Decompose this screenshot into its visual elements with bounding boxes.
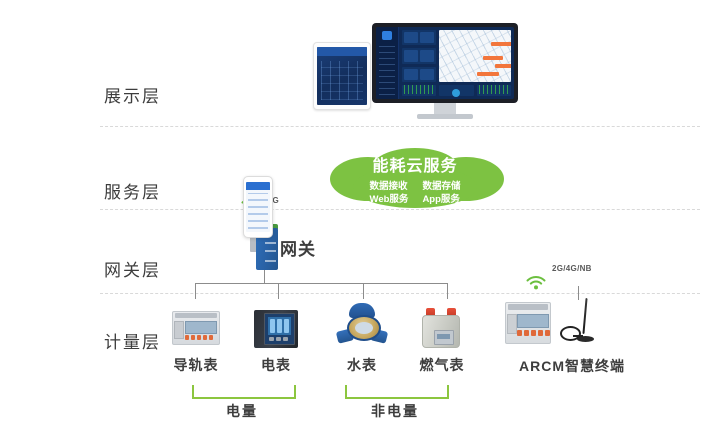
cloud-feature-web-service: Web服务 (370, 194, 409, 207)
antenna-cable-coil (560, 326, 581, 341)
sparkline-chart (479, 85, 509, 94)
cloud-features: 数据接收 Web服务 数据存储 App服务 (370, 181, 461, 206)
cloud-title: 能耗云服务 (372, 152, 457, 176)
bracket-non-electric-energy (345, 385, 449, 399)
bracket-electric-energy (192, 385, 296, 399)
gas-meter-body (422, 315, 460, 348)
sparkline-chart (404, 85, 434, 94)
din-rail-meter-terminal (174, 321, 184, 339)
monitor-screen (376, 27, 514, 99)
monitor-stand-neck (434, 103, 456, 114)
stat-card (402, 48, 436, 63)
tablet-screen (317, 47, 367, 105)
meter-label-water: 水表 (337, 355, 387, 375)
cloud-feature-app-service: App服务 (422, 194, 459, 207)
meter-label-gas: 燃气表 (416, 355, 468, 375)
meter-label-electric: 电表 (251, 355, 301, 375)
cloud-feature-data-receive: 数据接收 (370, 181, 408, 194)
cloud-service: 能耗云服务 数据接收 Web服务 数据存储 App服务 (316, 147, 514, 209)
dashboard-body (399, 27, 514, 99)
antenna-device (560, 298, 596, 344)
stat-card (402, 30, 436, 45)
divider-service-gateway (100, 209, 700, 210)
architecture-diagram: 展示层 服务层 网关层 计量层 (0, 0, 715, 443)
terminal-label: ARCM智慧终端 (512, 356, 632, 376)
phone-screen (246, 182, 270, 232)
map-marker (491, 42, 511, 46)
terminal-uplink-tag: 2G/4G/NB (552, 264, 592, 273)
gas-meter-device (420, 308, 462, 348)
meter-label-din-rail: 导轨表 (166, 355, 226, 375)
arcm-terminal-display (517, 314, 549, 328)
arcm-terminal-device (505, 302, 551, 344)
layer-label-service: 服务层 (104, 178, 194, 203)
dashboard-top-row (402, 30, 511, 82)
summary-card (477, 85, 511, 96)
bracket-label-electric-energy: 电量 (192, 401, 292, 421)
chart-card (402, 85, 436, 96)
connector-gateway-trunk (264, 270, 265, 283)
bracket-label-non-electric-energy: 非电量 (345, 401, 445, 421)
divider-presentation-service (100, 126, 700, 127)
din-rail-meter-display (185, 321, 217, 334)
monitor-stand-base (417, 114, 473, 119)
gas-meter-display (434, 330, 454, 345)
arcm-terminal-port (507, 314, 517, 334)
smartphone-device (243, 176, 273, 238)
wifi-icon-terminal (525, 274, 547, 290)
gauge-icon (452, 89, 460, 97)
dashboard-logo-icon (382, 31, 392, 40)
water-meter-dial (347, 315, 381, 341)
gateway-label: 网关 (280, 235, 316, 260)
cloud-features-left: 数据接收 Web服务 (370, 181, 409, 206)
divider-gateway-metering (100, 293, 700, 294)
connector-horizontal-bus (195, 283, 448, 284)
map-marker (477, 72, 499, 76)
layer-label-gateway: 网关层 (104, 256, 194, 281)
electric-meter-device (254, 310, 298, 348)
gauge-card (439, 85, 473, 96)
connector-drop-water (363, 283, 364, 299)
map-marker (483, 56, 503, 60)
electric-meter-display (268, 317, 291, 335)
gateway-label-strip (265, 242, 276, 244)
connector-drop-din-rail (195, 283, 196, 299)
tablet-device (313, 42, 371, 110)
gateway-label-strip (265, 250, 276, 252)
antenna-rod (582, 298, 587, 334)
dashboard-bottom-row (402, 85, 511, 96)
map-marker (495, 64, 511, 68)
cloud-features-right: 数据存储 App服务 (422, 181, 460, 206)
monitor-bezel (372, 23, 518, 103)
dashboard-map-panel (439, 30, 511, 82)
gateway-label-strip (265, 260, 276, 262)
cloud-text-block: 能耗云服务 数据接收 Web服务 数据存储 App服务 (316, 147, 514, 209)
stat-card (402, 67, 436, 82)
water-meter-device (337, 303, 387, 349)
dashboard-sidebar (376, 27, 399, 99)
layer-label-presentation: 展示层 (104, 82, 194, 107)
connector-drop-gas (447, 283, 448, 299)
din-rail-meter-keys (185, 335, 213, 340)
electric-meter-buttons (269, 337, 288, 341)
desktop-monitor-device (372, 23, 518, 120)
connector-drop-electric (278, 283, 279, 299)
din-rail-meter-device (172, 311, 220, 345)
electric-meter-face (264, 313, 295, 345)
arcm-terminal-keys (517, 330, 550, 336)
cloud-feature-data-storage: 数据存储 (422, 181, 460, 194)
dashboard-stat-cards (402, 30, 436, 82)
arcm-terminal-topbar (508, 304, 548, 310)
din-rail-meter-topbar (175, 313, 217, 318)
